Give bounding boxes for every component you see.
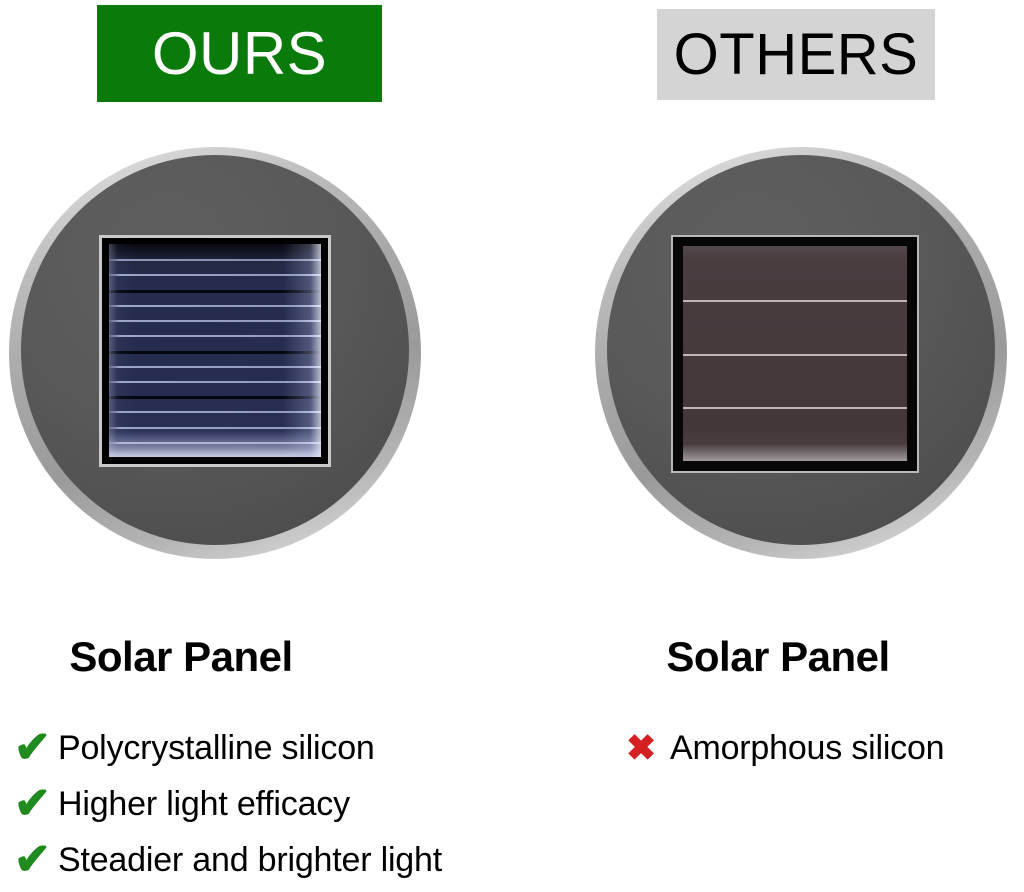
- panel-busbar-line: [109, 396, 321, 399]
- panel-grid-line: [109, 411, 321, 413]
- banner-others: OTHERS: [657, 9, 935, 100]
- solar-panel-others: [671, 235, 919, 473]
- panel-busbar-line: [109, 290, 321, 293]
- panel-grid-line: [109, 366, 321, 368]
- cross-mark-icon: ✖: [626, 730, 670, 766]
- panel-grid-line: [109, 274, 321, 276]
- check-mark-icon: ✔: [14, 838, 58, 882]
- feature-list-ours: ✔ Polycrystalline silicon ✔ Higher light…: [14, 724, 442, 892]
- panel-title-ours: Solar Panel: [0, 633, 437, 681]
- housing-inner-face-ours: [21, 155, 409, 545]
- panel-bezel-others: [673, 237, 917, 471]
- list-item: ✔ Steadier and brighter light: [14, 836, 442, 884]
- list-item: ✔ Higher light efficacy: [14, 780, 442, 828]
- panel-title-others: Solar Panel: [522, 633, 1024, 681]
- check-mark-icon: ✔: [14, 782, 58, 826]
- panel-grid-line: [109, 381, 321, 383]
- solar-light-housing-others: [595, 147, 1007, 559]
- column-others: OTHERS Solar Panel ✖ Amorphous silicon: [512, 0, 1024, 886]
- housing-inner-face-others: [607, 155, 995, 545]
- comparison-infographic: OURS Solar Panel ✔ Polycrystalline silic…: [0, 0, 1024, 886]
- panel-grid-line: [109, 427, 321, 429]
- panel-cell-surface-ours: [109, 244, 321, 457]
- panel-grid-line: [109, 442, 321, 444]
- column-ours: OURS Solar Panel ✔ Polycrystalline silic…: [0, 0, 512, 886]
- panel-busbar-line: [109, 351, 321, 354]
- banner-ours: OURS: [97, 5, 382, 102]
- panel-bezel-ours: [102, 238, 328, 464]
- panel-grid-line: [683, 407, 907, 409]
- list-item: ✖ Amorphous silicon: [626, 724, 944, 772]
- feature-list-others: ✖ Amorphous silicon: [626, 724, 944, 780]
- panel-grid-line: [683, 354, 907, 356]
- solar-light-housing-ours: [9, 147, 421, 559]
- list-item-label: Higher light efficacy: [58, 785, 350, 824]
- list-item-label: Amorphous silicon: [670, 729, 944, 768]
- check-mark-icon: ✔: [14, 726, 58, 770]
- panel-grid-line: [109, 320, 321, 322]
- panel-grid-line: [109, 335, 321, 337]
- panel-grid-line: [109, 305, 321, 307]
- list-item-label: Steadier and brighter light: [58, 841, 442, 880]
- panel-cell-surface-others: [683, 246, 907, 461]
- panel-grid-line: [109, 259, 321, 261]
- panel-grid-line: [683, 300, 907, 302]
- solar-panel-ours: [99, 235, 331, 467]
- list-item: ✔ Polycrystalline silicon: [14, 724, 442, 772]
- list-item-label: Polycrystalline silicon: [58, 729, 375, 768]
